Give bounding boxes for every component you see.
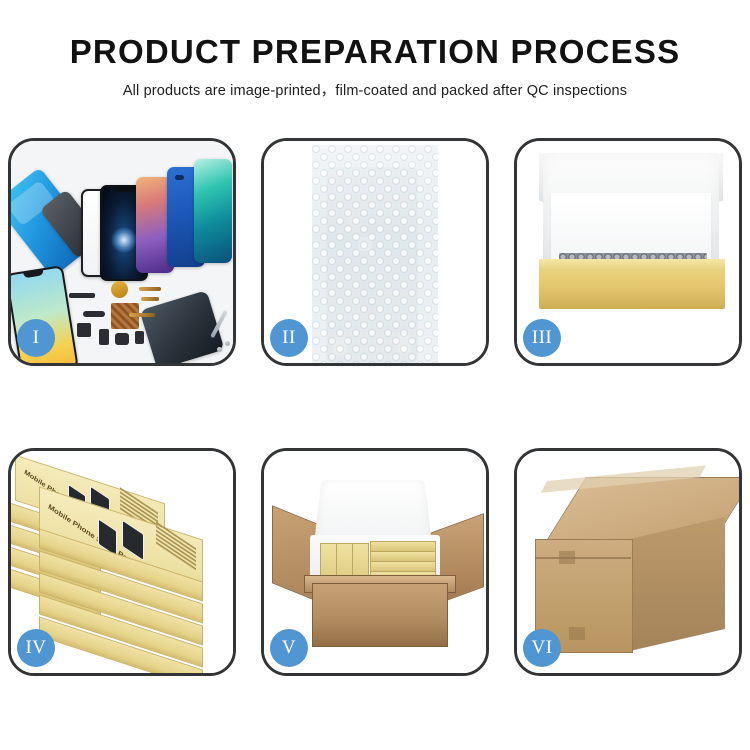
carton-right-face [630, 517, 725, 651]
screw-part-b [217, 347, 222, 352]
process-step-panel-4: Mobile Phone Spare Parts Mobile Phone Sp… [8, 448, 236, 676]
process-step-grid: I II [8, 138, 742, 678]
foam-lid [314, 480, 432, 542]
carton-body [312, 583, 448, 647]
page-header: PRODUCT PREPARATION PROCESS All products… [0, 34, 750, 100]
process-step-panel-1: I [8, 138, 236, 366]
step-6-image: VI [517, 451, 739, 673]
screw-part-a [225, 341, 230, 346]
display-flex-part [129, 313, 155, 317]
step-1-image: I [11, 141, 233, 363]
step-5-image: V [264, 451, 486, 673]
process-step-panel-6: VI [514, 448, 742, 676]
step-badge-1: I [17, 319, 55, 357]
step-4-image: Mobile Phone Spare Parts Mobile Phone Sp… [11, 451, 233, 673]
step-badge-6: VI [523, 629, 561, 667]
vibration-motor-part [111, 281, 128, 298]
teal-wave-phone [194, 159, 232, 263]
product-preparation-process-page: PRODUCT PREPARATION PROCESS All products… [0, 0, 750, 750]
step-badge-3: III [523, 319, 561, 357]
charging-port-part [135, 331, 144, 344]
sim-tray-part [99, 329, 109, 345]
yellow-box-front-wall [539, 259, 725, 271]
step-badge-4: IV [17, 629, 55, 667]
speaker-box-part [115, 333, 129, 345]
bubble-wrap-texture [312, 145, 438, 363]
antenna-cable-part [83, 311, 105, 317]
carton-hand-tab-upper [559, 551, 575, 564]
step-3-image: III [517, 141, 739, 363]
page-subtitle: All products are image-printed，film-coat… [0, 79, 750, 100]
volume-flex-part [139, 287, 161, 291]
carton-front-seam [535, 557, 631, 559]
process-step-panel-3: III [514, 138, 742, 366]
process-step-panel-2: II [261, 138, 489, 366]
camera-module-part [77, 323, 91, 337]
step-badge-2: II [270, 319, 308, 357]
bubble-wrap-bag [312, 145, 438, 363]
power-flex-part [141, 297, 159, 301]
step-2-image: II [264, 141, 486, 363]
process-step-panel-5: V [261, 448, 489, 676]
carton-hand-tab-lower [569, 627, 585, 640]
earpiece-mesh-part [69, 293, 95, 298]
step-badge-5: V [270, 629, 308, 667]
page-title: PRODUCT PREPARATION PROCESS [0, 34, 750, 70]
